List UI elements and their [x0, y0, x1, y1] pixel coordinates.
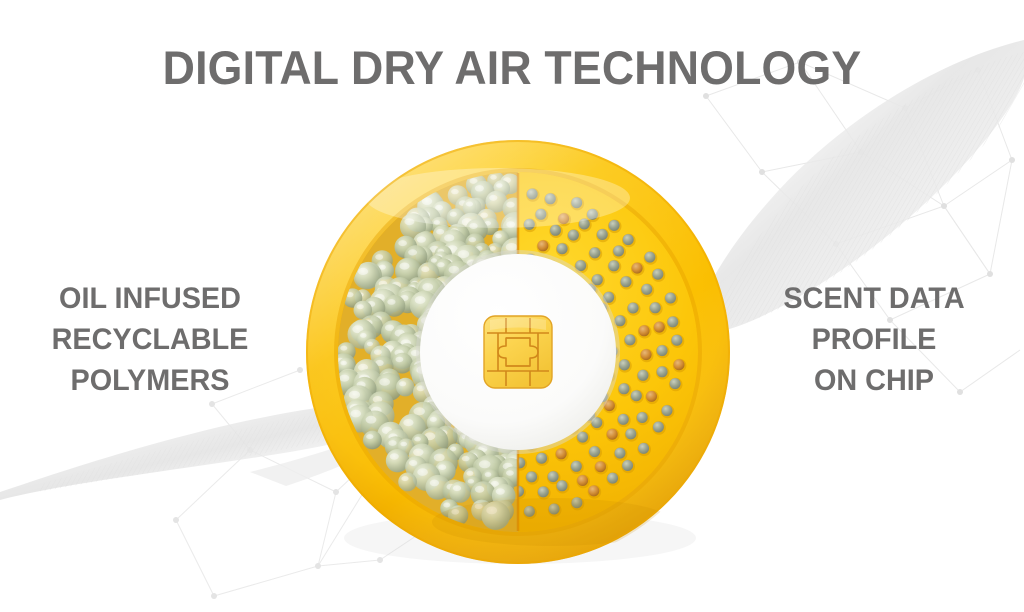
polymer-bead-highlight [357, 304, 364, 309]
perforation-hole [589, 247, 600, 258]
perforation-hole [670, 378, 681, 389]
page-title: DIGITAL DRY AIR TECHNOLOGY [26, 40, 999, 95]
polymer-bead-highlight [374, 349, 382, 355]
perforation-hole [537, 240, 548, 251]
polymer-bead-highlight [421, 266, 429, 272]
polymer-bead-highlight [462, 456, 470, 461]
polymer-bead-highlight [469, 237, 476, 242]
scent-data-chip [484, 316, 552, 388]
polymer-bead-highlight [408, 249, 417, 255]
polymer-bead-highlight [443, 503, 450, 508]
polymer-bead-highlight [444, 234, 454, 241]
polymer-bead-highlight [403, 419, 413, 426]
polymer-bead-highlight [414, 437, 421, 442]
perforation-hole [622, 460, 633, 471]
perforation-hole [657, 366, 668, 377]
polymer-bead-highlight [479, 460, 490, 468]
polymer-bead-highlight [379, 378, 390, 386]
perforation-hole [674, 359, 685, 370]
label-right-line-2: PROFILE [730, 319, 1018, 360]
polymer-bead-highlight [387, 299, 395, 305]
polymer-bead-highlight [485, 472, 492, 477]
perforation-hole [637, 412, 648, 423]
perforation-hole [577, 475, 588, 486]
perforation-hole [571, 461, 582, 472]
perforation-hole [671, 335, 682, 346]
perforation-hole [557, 480, 568, 491]
polymer-bead-highlight [475, 486, 484, 493]
label-right-line-1: SCENT DATA [730, 278, 1018, 319]
polymer-bead-highlight [358, 268, 368, 275]
polymer-bead-highlight [496, 488, 505, 494]
perforation-hole [638, 443, 649, 454]
polymer-bead-highlight [468, 479, 474, 483]
perforation-hole [625, 428, 636, 439]
perforation-hole [615, 448, 626, 459]
perforation-hole [650, 302, 661, 313]
perforation-hole [588, 485, 599, 496]
perforation-hole [619, 359, 630, 370]
polymer-bead-highlight [351, 410, 362, 418]
polymer-bead-highlight [495, 234, 502, 239]
polymer-bead-highlight [437, 262, 444, 267]
polymer-bead-highlight [398, 240, 407, 246]
perforation-hole [619, 383, 630, 394]
perforation-hole [632, 263, 643, 274]
polymer-bead-highlight [375, 254, 383, 260]
perforation-hole [653, 422, 664, 433]
polymer-bead-highlight [466, 471, 473, 476]
perforation-hole [639, 325, 650, 336]
perforation-hole [607, 473, 618, 484]
polymer-bead-highlight [366, 434, 373, 439]
polymer-bead-highlight [349, 391, 360, 399]
perforation-hole [589, 446, 600, 457]
perforation-hole [613, 246, 624, 257]
polymer-bead-highlight [388, 440, 396, 446]
perforation-hole [526, 471, 537, 482]
polymer-bead-highlight [385, 325, 394, 331]
perforation-hole [557, 243, 568, 254]
perforation-hole [621, 276, 632, 287]
polymer-bead-highlight [431, 258, 437, 262]
label-left-line-1: OIL INFUSED [6, 278, 294, 319]
polymer-bead-highlight [366, 416, 377, 424]
polymer-bead [363, 431, 382, 450]
polymer-bead-highlight [399, 263, 409, 270]
polymer-bead-highlight [453, 485, 461, 491]
label-left-line-2: RECYCLABLE [6, 319, 294, 360]
perforation-hole [667, 316, 678, 327]
polymer-bead-highlight [399, 381, 406, 386]
perforation-hole [623, 234, 634, 245]
polymer-bead-highlight [409, 460, 417, 466]
polymer-bead-highlight [422, 283, 433, 291]
polymer-bead-highlight [401, 476, 408, 481]
perforation-hole [625, 334, 636, 345]
perforation-hole [548, 471, 559, 482]
perforation-hole [654, 322, 665, 333]
polymer-bead-highlight [415, 296, 426, 304]
polymer-bead-highlight [360, 333, 367, 338]
polymer-bead [398, 473, 417, 492]
perforation-hole [662, 405, 673, 416]
infographic-canvas: DIGITAL DRY AIR TECHNOLOGY OIL INFUSED R… [0, 0, 1024, 612]
polymer-bead-highlight [430, 417, 437, 422]
perforation-hole [538, 486, 549, 497]
polymer-bead-highlight [340, 375, 350, 382]
polymer-bead-highlight [506, 470, 514, 475]
polymer-bead-highlight [506, 243, 517, 251]
perforation-hole [550, 225, 561, 236]
perforation-hole [631, 390, 642, 401]
perforation-hole [641, 284, 652, 295]
polymer-bead-highlight [400, 442, 407, 447]
perforation-hole [618, 414, 629, 425]
polymer-bead-highlight [367, 342, 373, 346]
polymer-bead [449, 481, 470, 502]
label-oil-infused-recyclable-polymers: OIL INFUSED RECYCLABLE POLYMERS [6, 278, 294, 401]
perforation-hole [644, 252, 655, 263]
polymer-bead [396, 378, 415, 397]
label-scent-data-profile-on-chip: SCENT DATA PROFILE ON CHIP [730, 278, 1018, 401]
digital-dry-air-disc [302, 136, 734, 568]
polymer-bead-highlight [390, 453, 399, 459]
polymer-bead-highlight [458, 250, 469, 258]
polymer-bead-highlight [417, 236, 426, 242]
label-right-line-3: ON CHIP [730, 360, 1018, 401]
perforation-hole [657, 345, 668, 356]
polymer-bead-highlight [438, 464, 446, 470]
polymer-bead-highlight [436, 229, 444, 235]
polymer-bead-highlight [434, 454, 445, 462]
perforation-hole [628, 303, 639, 314]
polymer-bead-highlight [396, 357, 404, 363]
polymer-bead-highlight [413, 449, 423, 456]
perforation-hole [638, 370, 649, 381]
perforation-hole [665, 293, 676, 304]
perforation-hole [536, 453, 547, 464]
polymer-bead-highlight [341, 361, 347, 366]
polymer-bead-highlight [417, 468, 428, 476]
perforation-hole [556, 448, 567, 459]
polymer-bead-highlight [340, 346, 347, 351]
perforation-hole [609, 220, 620, 231]
polymer-bead-highlight [490, 246, 496, 251]
perforation-hole [597, 229, 608, 240]
perforation-hole [652, 269, 663, 280]
perforation-hole [646, 391, 657, 402]
perforation-hole [608, 260, 619, 271]
polymer-bead-highlight [414, 407, 425, 415]
perforation-hole [568, 230, 579, 241]
label-left-line-3: POLYMERS [6, 360, 294, 401]
perforation-hole [595, 461, 606, 472]
polymer-bead-highlight [430, 480, 439, 487]
perforation-hole [641, 349, 652, 360]
perforation-hole [607, 429, 618, 440]
